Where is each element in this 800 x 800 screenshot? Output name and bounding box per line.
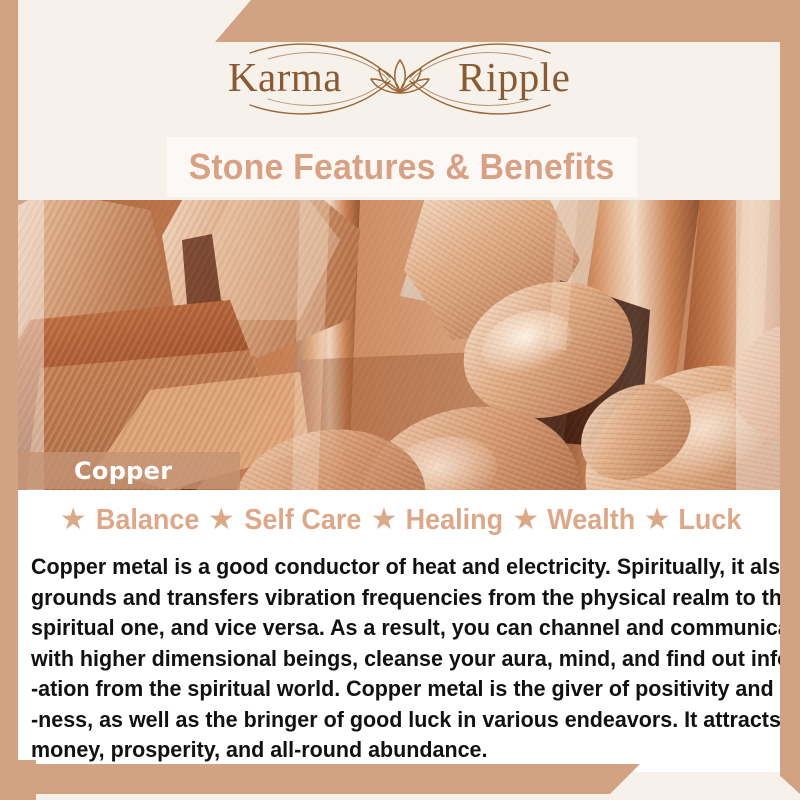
- star-icon: ★: [512, 505, 539, 535]
- feature-item-self-care: Self Care: [244, 504, 361, 537]
- star-icon: ★: [60, 505, 87, 535]
- feature-item-balance: Balance: [96, 504, 199, 537]
- page-title: Stone Features & Benefits: [189, 146, 615, 188]
- feature-list: ★ Balance ★ Self Care ★ Healing ★ Wealth…: [18, 504, 780, 537]
- description-line: Copper metal is a good conductor of heat…: [31, 552, 738, 583]
- description-line: money, prosperity, and all-round abundan…: [31, 735, 738, 766]
- description-line: with higher dimensional beings, cleanse …: [31, 644, 738, 675]
- description-line: spiritual one, and vice versa. As a resu…: [31, 613, 738, 644]
- photo-caption-label: Copper: [74, 457, 172, 485]
- description-line: -ness, as well as the bringer of good lu…: [31, 705, 738, 736]
- description-text: Copper metal is a good conductor of heat…: [31, 552, 771, 766]
- title-banner: Stone Features & Benefits: [168, 138, 636, 196]
- star-icon: ★: [644, 505, 671, 535]
- logo-flourish-icon: Karma Ripple: [190, 29, 610, 129]
- feature-item-wealth: Wealth: [547, 504, 635, 537]
- brand-name-left: Karma: [228, 54, 342, 100]
- photo-right-fade: [736, 200, 780, 490]
- frame-right-bevel: [780, 746, 800, 794]
- brand-name-right: Ripple: [458, 54, 570, 100]
- content-panel: ★ Balance ★ Self Care ★ Healing ★ Wealth…: [18, 490, 780, 772]
- feature-item-luck: Luck: [678, 504, 741, 537]
- frame-bottom-band: [0, 764, 640, 794]
- brand-logo: Karma Ripple: [0, 24, 800, 134]
- star-icon: ★: [371, 505, 398, 535]
- star-icon: ★: [208, 505, 235, 535]
- description-line: -ation from the spiritual world. Copper …: [31, 674, 738, 705]
- photo-caption-bar: Copper: [18, 452, 240, 489]
- feature-item-healing: Healing: [406, 504, 503, 537]
- promo-card: Karma Ripple Stone Features & Benefits: [0, 0, 800, 800]
- description-line: grounds and transfers vibration frequenc…: [31, 583, 738, 614]
- product-photo: [0, 200, 800, 490]
